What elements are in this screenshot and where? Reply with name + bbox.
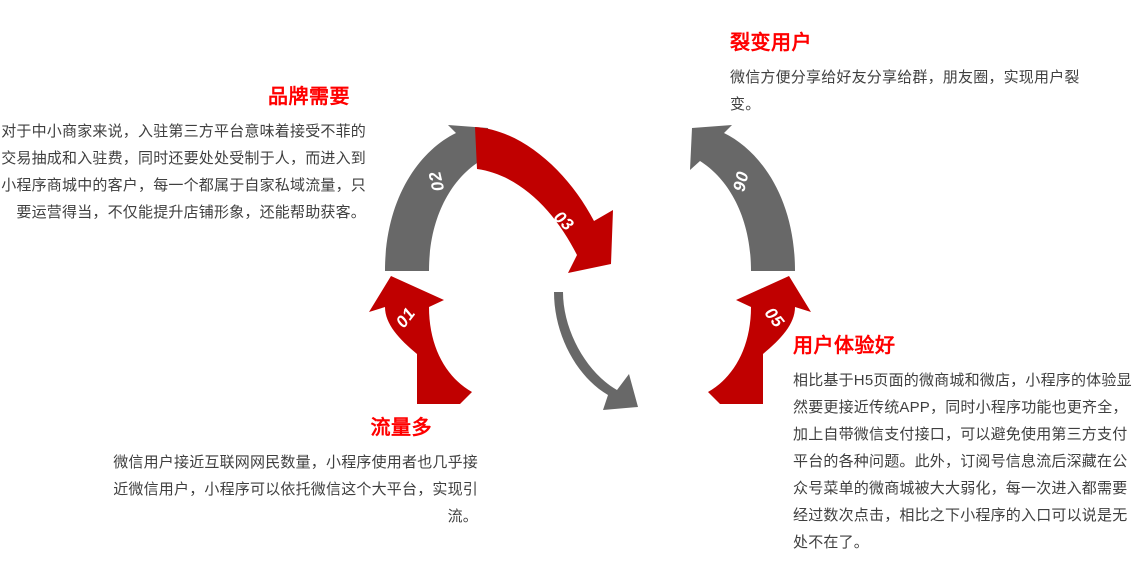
arrow-06: 06 [690, 125, 795, 271]
text-block-brand: 品牌需要 对于中小商家来说，入驻第三方平台意味着接受不菲的交易抽成和入驻费，同时… [0, 84, 372, 226]
arrow-02: 02 [385, 125, 490, 271]
arrow-06-shape [690, 125, 795, 271]
arrow-03-shape [475, 127, 613, 273]
heading-fission: 裂变用户 [730, 30, 1090, 56]
arrow-01-shape [369, 276, 472, 404]
text-block-experience: 用户体验好 相比基于H5页面的微商城和微店，小程序的体验显然要更接近传统APP，… [793, 333, 1138, 556]
arrow-03: 03 [475, 127, 613, 273]
cycle-diagram: 02 01 03 04 06 [355, 125, 825, 410]
arrow-01: 01 [369, 276, 472, 404]
text-block-fission: 裂变用户 微信方便分享给好友分享给群，朋友圈，实现用户裂变。 [730, 30, 1090, 118]
infographic-canvas: 品牌需要 对于中小商家来说，入驻第三方平台意味着接受不菲的交易抽成和入驻费，同时… [0, 0, 1145, 585]
body-brand: 对于中小商家来说，入驻第三方平台意味着接受不菲的交易抽成和入驻费，同时还要处处受… [0, 118, 372, 226]
arrow-02-shape [385, 125, 490, 271]
heading-brand: 品牌需要 [0, 84, 372, 110]
text-block-traffic: 流量多 微信用户接近互联网网民数量，小程序使用者也几乎接近微信用户，小程序可以依… [112, 415, 484, 530]
arrow-05-shape [708, 276, 811, 404]
arrow-04: 04 [554, 292, 638, 410]
body-traffic: 微信用户接近互联网网民数量，小程序使用者也几乎接近微信用户，小程序可以依托微信这… [112, 449, 484, 530]
body-fission: 微信方便分享给好友分享给群，朋友圈，实现用户裂变。 [730, 64, 1090, 118]
arrow-05: 05 [708, 276, 811, 404]
cycle-diagram-svg: 02 01 03 04 06 [355, 125, 825, 410]
body-experience: 相比基于H5页面的微商城和微店，小程序的体验显然要更接近传统APP，同时小程序功… [793, 367, 1138, 556]
heading-experience: 用户体验好 [793, 333, 1138, 359]
heading-traffic: 流量多 [112, 415, 484, 441]
